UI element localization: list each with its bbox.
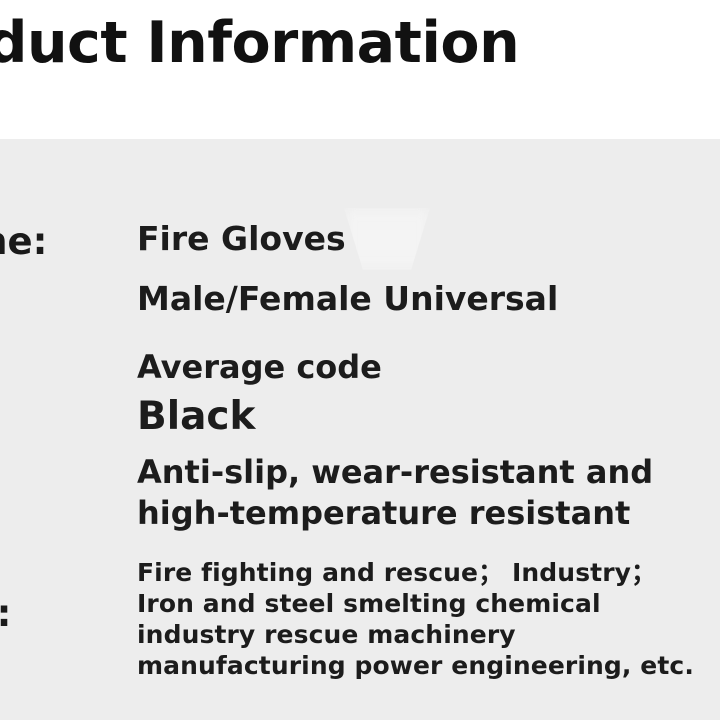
product-information-page: oduct Information ame: nario: Fire Glove…	[0, 0, 720, 720]
spec-value-code: Average code	[137, 346, 717, 388]
spec-label-name: ame:	[0, 219, 47, 265]
spec-value-column: Fire Gloves Male/Female Universal Averag…	[137, 217, 717, 681]
spec-value-color: Black	[137, 393, 717, 440]
spec-value-size: Male/Female Universal	[137, 277, 717, 321]
spec-label-scenario: nario:	[0, 591, 11, 637]
spec-value-features: Anti-slip, wear-resistant and high-tempe…	[137, 452, 697, 534]
header-band: oduct Information	[0, 0, 720, 139]
page-title: oduct Information	[0, 7, 720, 79]
spec-value-product-name: Fire Gloves	[137, 217, 717, 261]
spec-value-scenario: Fire fighting and rescue； Industry； Iron…	[137, 557, 709, 681]
